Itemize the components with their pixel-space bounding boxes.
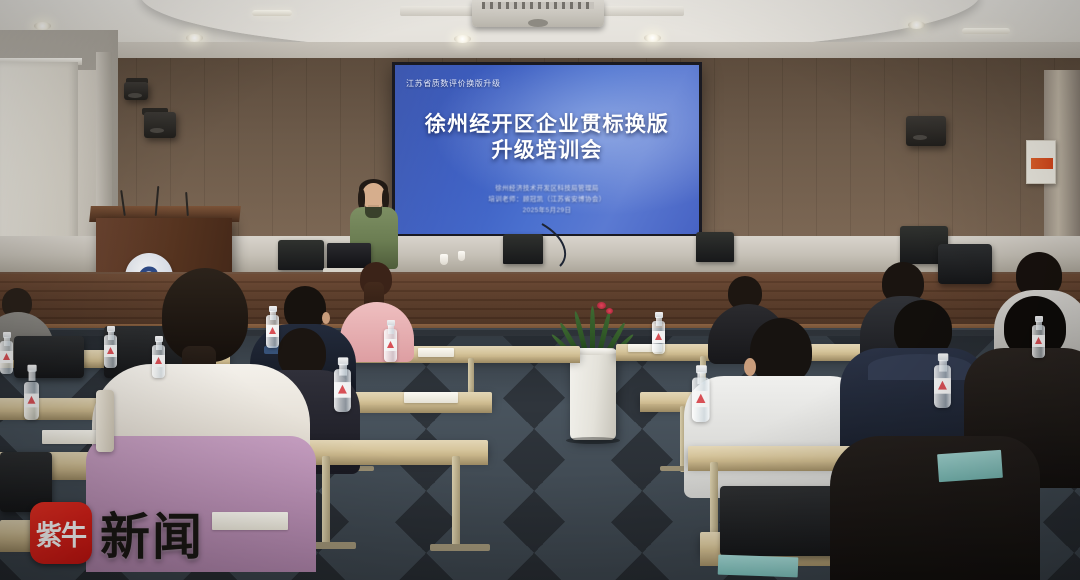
projector-lens	[528, 19, 548, 27]
bottle-body	[334, 369, 351, 412]
ceiling-linear-light	[962, 28, 1010, 34]
projector-vents	[482, 2, 594, 9]
ceiling-downlight	[908, 21, 925, 29]
water-bottle	[0, 332, 13, 374]
wall-speaker-left	[144, 112, 176, 138]
bottle-body	[0, 341, 13, 374]
wall-speaker-left-upper	[124, 82, 148, 100]
handout-paper	[404, 392, 458, 403]
water-bottle	[652, 312, 665, 354]
slide-subtitle-line1: 徐州经济技术开发区科技局管理局	[395, 183, 699, 194]
stage-chair	[503, 234, 543, 264]
desk-leg	[322, 456, 330, 548]
ceiling-downlight	[186, 34, 203, 42]
paper-cup	[458, 251, 465, 261]
plant-flower	[597, 302, 606, 309]
bottle-label	[652, 331, 665, 343]
picture-orange-block	[1031, 158, 1053, 169]
water-bottle	[384, 320, 397, 362]
stage-chair	[278, 240, 324, 270]
wall-speaker-right	[906, 116, 946, 146]
handout-paper	[212, 512, 288, 530]
bottle-neck	[28, 371, 35, 381]
hoodie-hood	[868, 354, 972, 380]
handout-paper	[418, 348, 454, 357]
paper-cup	[440, 254, 448, 265]
ziniu-logo-icon: 紫牛	[30, 502, 92, 564]
watermark-ziniu-news: 紫牛 新闻	[30, 497, 204, 569]
ceiling-linear-light	[252, 10, 292, 16]
water-bottle	[152, 336, 165, 378]
bottle-label	[24, 394, 39, 408]
slide-subtitle: 徐州经济技术开发区科技局管理局 培训老师：顾冠凯（江苏省安博协会） 2025年5…	[395, 183, 699, 216]
attendee-torso	[830, 436, 1040, 580]
ceiling-downlight	[454, 35, 471, 43]
bottle-body	[934, 365, 951, 408]
plant-leaf	[590, 306, 595, 352]
conference-room-photo: 江苏省质数评价换版升级 徐州经开区企业贯标换版 升级培训会 徐州经济技术开发区科…	[0, 0, 1080, 580]
speaker-collar	[365, 207, 382, 218]
projection-screen-frame: 江苏省质数评价换版升级 徐州经开区企业贯标换版 升级培训会 徐州经济技术开发区科…	[392, 62, 702, 237]
water-bottle	[1032, 316, 1045, 358]
plant-flower	[606, 308, 613, 314]
bottle-body	[652, 321, 665, 354]
slide-title-line2: 升级培训会	[395, 138, 699, 164]
desk-foot-bar	[430, 544, 490, 551]
attendee-head	[750, 318, 812, 384]
teal-notebook	[937, 450, 1003, 482]
bottle-label	[934, 378, 951, 394]
stage-chair	[696, 232, 734, 262]
bottle-label	[334, 382, 351, 398]
teal-notebook	[718, 555, 799, 578]
bottle-body	[384, 329, 397, 362]
handout-paper	[42, 430, 98, 444]
ceiling-projector	[472, 0, 604, 27]
bottle-label	[266, 325, 279, 337]
bottle-label	[104, 345, 117, 357]
bottle-label	[152, 355, 165, 367]
water-bottle	[334, 357, 351, 412]
speaker-hair-side	[358, 189, 365, 209]
bottle-body	[1032, 325, 1045, 358]
speaker-hair-side	[382, 189, 389, 209]
slide-title-line1: 徐州经开区企业贯标换版	[395, 112, 699, 138]
water-bottle	[934, 353, 951, 408]
ceiling-downlight	[34, 22, 51, 30]
water-bottle	[266, 306, 279, 348]
bottle-label	[384, 339, 397, 351]
bottle-label	[692, 391, 710, 407]
water-bottle	[24, 365, 41, 420]
plant-foliage	[566, 300, 622, 352]
bottle-label	[0, 351, 13, 363]
slide-subtitle-line3: 2025年5月29日	[395, 205, 699, 216]
bottle-body	[152, 345, 165, 378]
microphone-cable	[540, 222, 610, 268]
slide-banner-text: 江苏省质数评价换版升级	[406, 78, 501, 89]
chair-front-right	[720, 486, 840, 556]
desk-leg	[452, 456, 460, 548]
bottle-body	[24, 382, 39, 420]
bottle-body	[692, 377, 710, 422]
chair-stage-right	[938, 244, 992, 284]
water-bottle	[104, 326, 117, 368]
water-bottle	[692, 365, 710, 422]
bottle-label	[1032, 335, 1045, 347]
attendee-ear	[322, 312, 330, 324]
slide-title: 徐州经开区企业贯标换版 升级培训会	[395, 112, 699, 164]
projection-screen: 江苏省质数评价换版升级 徐州经开区企业贯标换版 升级培训会 徐州经济技术开发区科…	[395, 65, 699, 234]
slide-subtitle-line2: 培训老师：顾冠凯（江苏省安博协会）	[395, 194, 699, 205]
bottle-body	[266, 315, 279, 348]
ceiling-downlight	[644, 34, 661, 42]
thermos-tumbler	[96, 390, 114, 452]
bottle-body	[104, 335, 117, 368]
watermark-brand-text: 新闻	[100, 497, 204, 569]
framed-wall-picture	[1026, 140, 1056, 184]
attendee-ear	[744, 358, 756, 376]
ziniu-logo-text: 紫牛	[36, 514, 86, 553]
